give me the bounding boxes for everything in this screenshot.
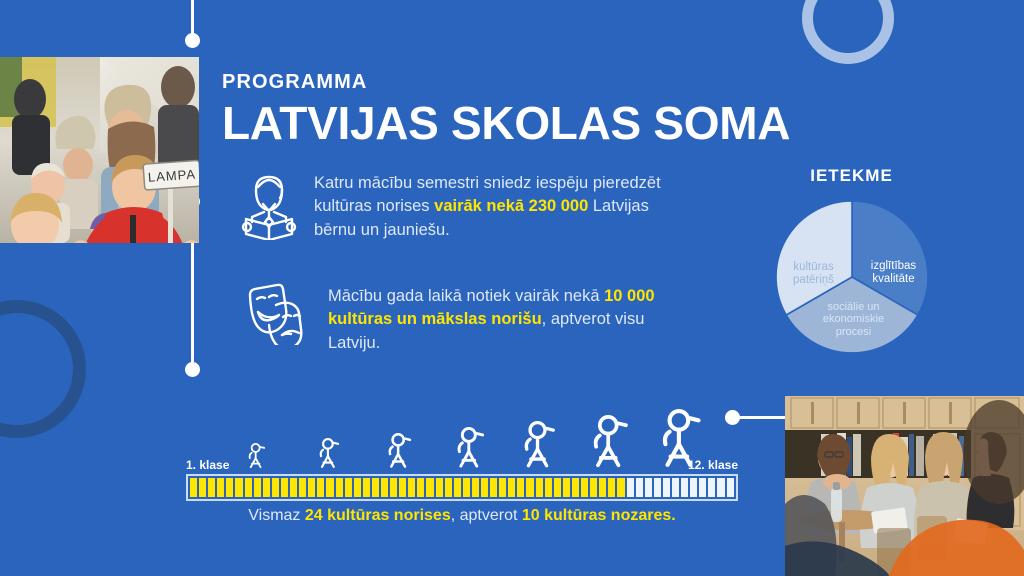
progress-segment-filled	[281, 478, 288, 497]
progress-segment-filled	[481, 478, 488, 497]
progress-segment-filled	[463, 478, 470, 497]
pupil-figure	[450, 427, 492, 474]
page-header: PROGRAMMA LATVIJAS SKOLAS SOMA	[222, 72, 790, 150]
progress-caption: Vismaz 24 kultūras norises, aptverot 10 …	[186, 507, 738, 525]
progress-segment-empty	[717, 478, 724, 497]
connector-dot-top	[185, 33, 200, 48]
fact-1-text: Katru mācību semestri sniedz iespēju pie…	[314, 172, 674, 242]
school-years-progress-bar[interactable]	[186, 474, 738, 501]
progress-segment-filled	[381, 478, 388, 497]
progress-segment-filled	[226, 478, 233, 497]
growing-pupils-row: 1. klase 12. klase	[186, 412, 738, 474]
progress-segment-empty	[654, 478, 661, 497]
progress-segment-filled	[508, 478, 515, 497]
fact-block-students-reached: Katru mācību semestri sniedz iespēju pie…	[240, 172, 674, 245]
progress-segment-empty	[699, 478, 706, 497]
pupil-figure	[382, 433, 418, 474]
progress-segment-filled	[590, 478, 597, 497]
progress-segment-filled	[217, 478, 224, 497]
progress-segment-empty	[690, 478, 697, 497]
progress-segment-filled	[390, 478, 397, 497]
progress-segment-filled	[545, 478, 552, 497]
progress-segment-filled	[617, 478, 624, 497]
pupil-figure	[244, 443, 270, 474]
school-years-progress-block: 1. klase 12. klase Vismaz 24 kultūras no…	[186, 412, 738, 525]
progress-segment-filled	[363, 478, 370, 497]
progress-segment-filled	[208, 478, 215, 497]
progress-segment-filled	[354, 478, 361, 497]
decorative-ring-top-right	[802, 0, 894, 64]
fact-2-text: Mācību gada laikā notiek vairāk nekā 10 …	[328, 285, 688, 355]
caption-highlight-1: 24 kultūras norises	[305, 507, 451, 524]
progress-segment-filled	[299, 478, 306, 497]
impact-chart-block: IETEKME izglītības kvalitāte kultūras pa…	[744, 166, 959, 357]
progress-segment-empty	[672, 478, 679, 497]
fact-2-line-1: Mācību gada laikā notiek vairāk nekā	[328, 287, 600, 305]
children-at-outdoor-festival-photo: LAMPA	[0, 57, 199, 243]
progress-segment-filled	[536, 478, 543, 497]
caption-plain-2: , aptverot	[451, 507, 522, 524]
progress-segment-filled	[599, 478, 606, 497]
progress-segment-filled	[490, 478, 497, 497]
fact-1-highlight-2: 230 000	[529, 197, 589, 215]
progress-segment-filled	[472, 478, 479, 497]
progress-segment-filled	[554, 478, 561, 497]
pupil-figure	[314, 438, 345, 474]
progress-segment-filled	[454, 478, 461, 497]
progress-segment-filled	[526, 478, 533, 497]
fact-1-line-1: Katru mācību semestri sniedz iespēju	[314, 174, 588, 192]
page-title: LATVIJAS SKOLAS SOMA	[222, 97, 790, 150]
progress-segment-filled	[372, 478, 379, 497]
progress-segment-filled	[336, 478, 343, 497]
progress-segment-filled	[263, 478, 270, 497]
progress-segment-empty	[636, 478, 643, 497]
student-reading-book-icon	[240, 172, 298, 245]
progress-segment-filled	[445, 478, 452, 497]
caption-highlight-2: 10 kultūras nozares.	[522, 507, 676, 524]
grade-end-label: 12. klase	[688, 458, 738, 472]
connector-dot-middle-bottom	[185, 362, 200, 377]
progress-segment-filled	[254, 478, 261, 497]
progress-segment-filled	[290, 478, 297, 497]
decorative-ring-left	[0, 300, 86, 438]
progress-segment-filled	[326, 478, 333, 497]
progress-segment-filled	[417, 478, 424, 497]
progress-segment-filled	[581, 478, 588, 497]
theater-masks-icon	[246, 283, 308, 350]
progress-segment-filled	[608, 478, 615, 497]
progress-segment-filled	[399, 478, 406, 497]
fact-1-highlight-1: vairāk nekā	[434, 197, 524, 215]
progress-segment-filled	[572, 478, 579, 497]
progress-segment-filled	[408, 478, 415, 497]
progress-segment-filled	[517, 478, 524, 497]
students-in-library-photo	[785, 396, 1024, 576]
progress-segment-filled	[345, 478, 352, 497]
progress-segment-filled	[426, 478, 433, 497]
progress-segment-filled	[190, 478, 197, 497]
progress-segment-filled	[499, 478, 506, 497]
pupil-figure	[516, 421, 564, 474]
impact-pie-chart: izglītības kvalitāte kultūras patēriņš s…	[772, 197, 932, 357]
progress-segment-filled	[199, 478, 206, 497]
fact-block-events-count: Mācību gada laikā notiek vairāk nekā 10 …	[246, 283, 688, 355]
programme-eyebrow: PROGRAMMA	[222, 72, 790, 92]
progress-segment-empty	[708, 478, 715, 497]
caption-plain-1: Vismaz	[248, 507, 305, 524]
progress-segment-filled	[235, 478, 242, 497]
impact-chart-title: IETEKME	[744, 166, 959, 186]
progress-segment-filled	[436, 478, 443, 497]
progress-segment-empty	[681, 478, 688, 497]
progress-segment-empty	[727, 478, 734, 497]
progress-segment-empty	[663, 478, 670, 497]
progress-segment-empty	[627, 478, 634, 497]
progress-segment-filled	[245, 478, 252, 497]
progress-segment-empty	[645, 478, 652, 497]
fact-2-comma: ,	[542, 310, 547, 328]
progress-segment-filled	[563, 478, 570, 497]
progress-segment-filled	[317, 478, 324, 497]
pupil-figure	[584, 415, 638, 474]
progress-segment-filled	[272, 478, 279, 497]
grade-start-label: 1. klase	[186, 458, 229, 472]
progress-segment-filled	[308, 478, 315, 497]
